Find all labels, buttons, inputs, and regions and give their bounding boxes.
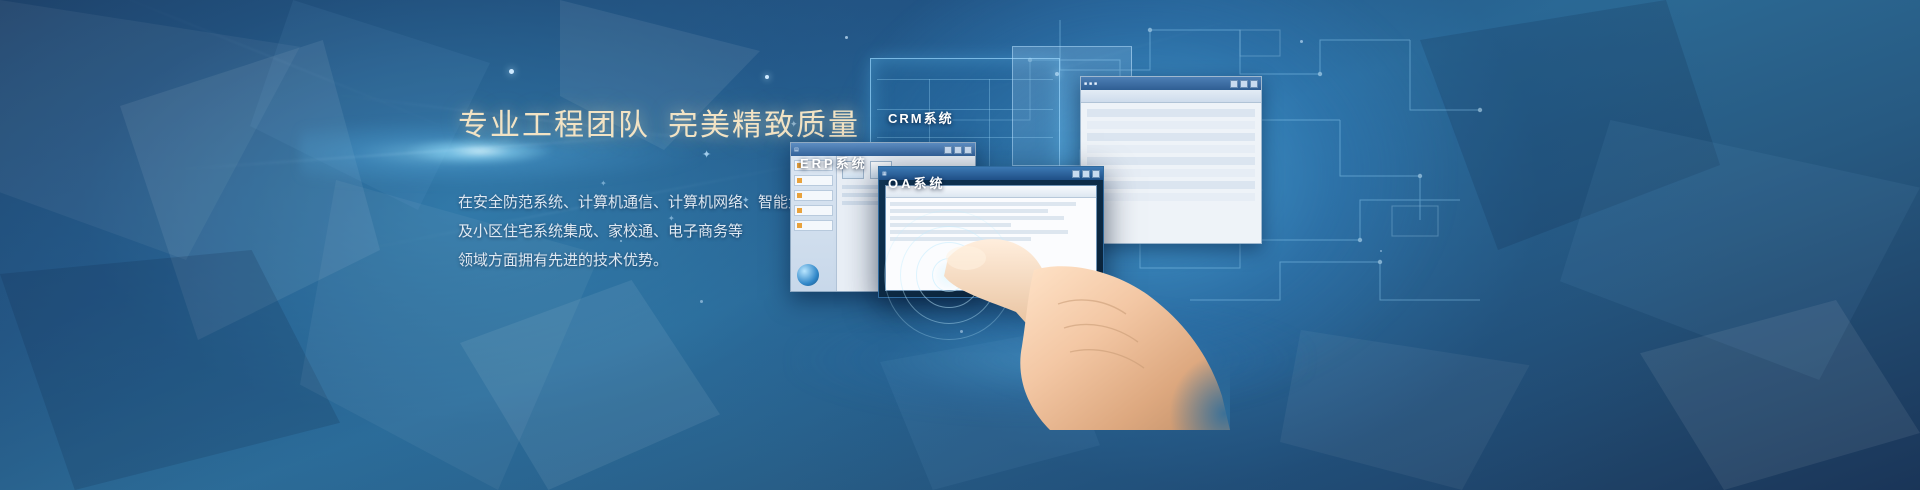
title-bar-text: ■ ■ ■ xyxy=(1084,81,1097,87)
content-row xyxy=(1087,121,1255,129)
headline-part-1: 专业工程团队 xyxy=(458,109,650,142)
sidebar-item[interactable] xyxy=(794,190,833,201)
sidebar-item[interactable] xyxy=(794,220,833,231)
window-label-crm: CRM系统 xyxy=(888,108,954,127)
logo-orb-icon xyxy=(797,264,819,286)
close-icon xyxy=(964,146,972,154)
window-controls[interactable] xyxy=(1230,80,1258,88)
sidebar-item[interactable] xyxy=(794,175,833,186)
wrist-fade xyxy=(1130,320,1230,430)
title-bar-text: ▦ xyxy=(882,171,887,177)
minimize-icon xyxy=(1230,80,1238,88)
title-bar: ■ ■ ■ xyxy=(1081,77,1261,90)
hero-banner: ✦ ✦ ✦ ✦ ✦ ✦ 专业工程团队完美精致质量 在安全防范系统、计算机通信、计… xyxy=(0,0,1920,490)
content-rows xyxy=(1081,103,1261,207)
pointing-hand xyxy=(930,200,1230,430)
window-label-oa: OA系统 xyxy=(888,173,946,192)
minimize-icon xyxy=(944,146,952,154)
content-row xyxy=(1087,169,1255,177)
window-label-erp: ERP系统 xyxy=(800,153,868,172)
window-controls[interactable] xyxy=(1072,170,1100,178)
folder-icon xyxy=(797,223,802,228)
folder-icon xyxy=(797,178,802,183)
sidebar-item[interactable] xyxy=(794,205,833,216)
content-row xyxy=(1087,109,1255,117)
particle xyxy=(700,300,703,303)
maximize-icon xyxy=(1240,80,1248,88)
close-icon xyxy=(1092,170,1100,178)
window-controls[interactable] xyxy=(944,146,972,154)
folder-icon xyxy=(797,193,802,198)
content-row xyxy=(1087,145,1255,153)
fingertip-highlight xyxy=(946,246,986,270)
polygon-facet xyxy=(1640,300,1920,490)
content-row xyxy=(1087,157,1255,165)
maximize-icon xyxy=(954,146,962,154)
content-row xyxy=(1087,181,1255,189)
grid-line xyxy=(989,79,990,169)
particle xyxy=(509,69,514,74)
close-icon xyxy=(1250,80,1258,88)
minimize-icon xyxy=(1072,170,1080,178)
title-bar-text: ▤ xyxy=(794,147,799,153)
toolbar-strip xyxy=(1081,90,1261,103)
folder-icon xyxy=(797,208,802,213)
maximize-icon xyxy=(1082,170,1090,178)
content-row xyxy=(1087,133,1255,141)
